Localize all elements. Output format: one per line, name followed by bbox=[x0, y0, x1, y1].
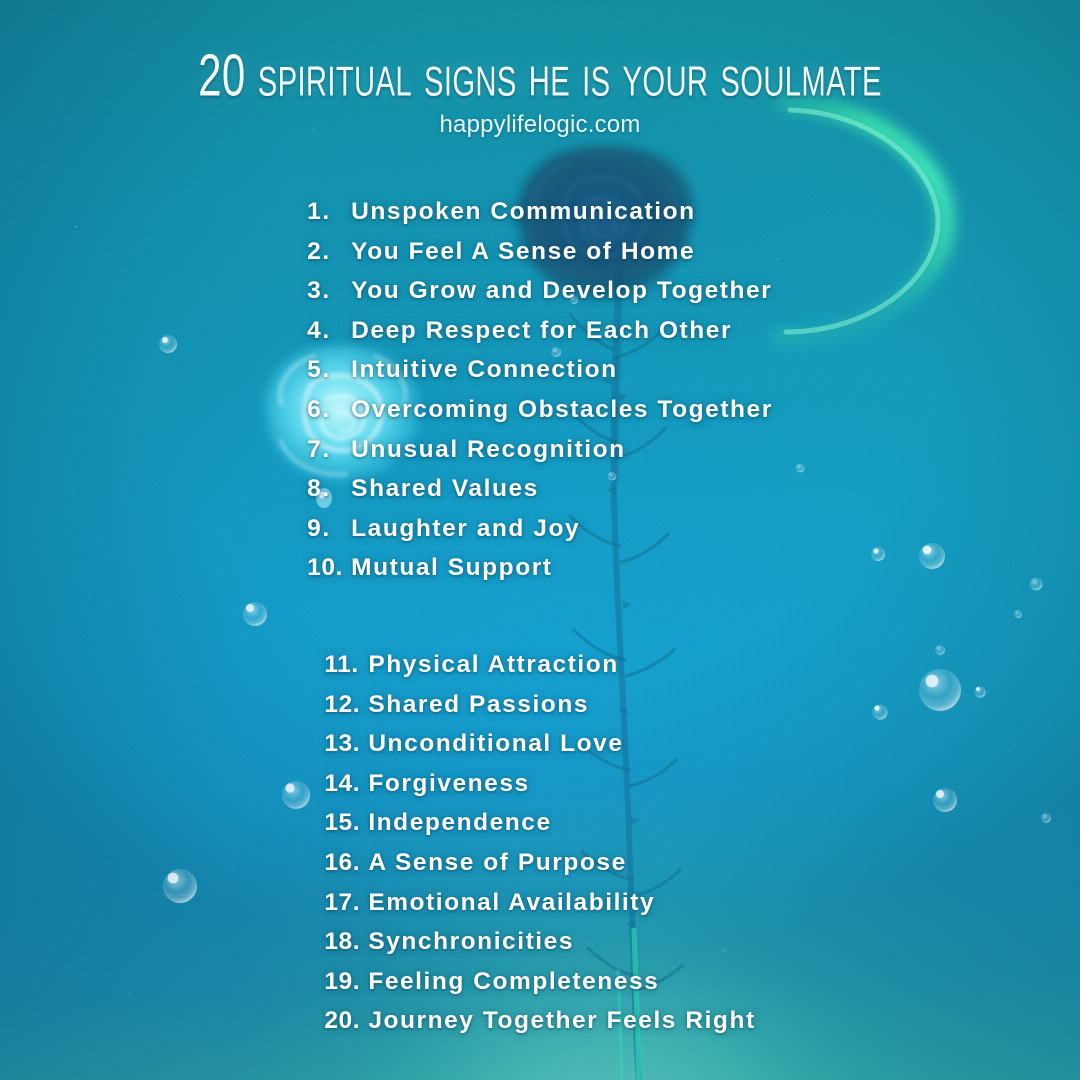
list-item-label: Journey Together Feels Right bbox=[368, 1007, 755, 1035]
list-item-number: 17. bbox=[324, 889, 368, 917]
list-item: 6. Overcoming Obstacles Together bbox=[307, 396, 773, 436]
list-item-label: Unspoken Communication bbox=[351, 198, 695, 226]
list-item-label: Feeling Completeness bbox=[368, 968, 659, 996]
list-item-label: Intuitive Connection bbox=[351, 356, 617, 384]
list-item-label: Deep Respect for Each Other bbox=[351, 317, 732, 345]
list-item-label: Laughter and Joy bbox=[351, 515, 580, 543]
list-item: 3. You Grow and Develop Together bbox=[307, 277, 773, 317]
list-item-number: 19. bbox=[324, 968, 368, 996]
list-item-number: 8. bbox=[307, 475, 351, 503]
list-item: 2. You Feel A Sense of Home bbox=[307, 238, 773, 278]
list-item-label: Physical Attraction bbox=[368, 651, 618, 679]
list-item: 17. Emotional Availability bbox=[324, 889, 755, 929]
list-item: 12. Shared Passions bbox=[324, 691, 755, 731]
list-item-label: Shared Passions bbox=[368, 691, 589, 719]
list-item-number: 12. bbox=[324, 691, 368, 719]
list-item-label: Emotional Availability bbox=[368, 889, 655, 917]
list-item: 11. Physical Attraction bbox=[324, 651, 755, 691]
list-item-number: 16. bbox=[324, 849, 368, 877]
list-item: 18. Synchronicities bbox=[324, 928, 755, 968]
list-item-number: 14. bbox=[324, 770, 368, 798]
list-item-number: 3. bbox=[307, 277, 351, 305]
site-url: happylifelogic.com bbox=[0, 111, 1080, 139]
list-item: 4. Deep Respect for Each Other bbox=[307, 317, 773, 357]
signs-group-1: 1. Unspoken Communication 2. You Feel A … bbox=[307, 198, 773, 594]
poster-content: 20 Spiritual Signs He Is Your Soulmate h… bbox=[0, 0, 1080, 1080]
list-item-label: Forgiveness bbox=[368, 770, 529, 798]
list-item: 9. Laughter and Joy bbox=[307, 515, 773, 555]
list-item: 8. Shared Values bbox=[307, 475, 773, 515]
list-item: 15. Independence bbox=[324, 809, 755, 849]
list-item-label: Unusual Recognition bbox=[351, 436, 625, 464]
list-item: 5. Intuitive Connection bbox=[307, 356, 773, 396]
list-item: 1. Unspoken Communication bbox=[307, 198, 773, 238]
list-item-label: You Grow and Develop Together bbox=[351, 277, 772, 305]
list-item-label: A Sense of Purpose bbox=[368, 849, 626, 877]
poster-canvas: 20 Spiritual Signs He Is Your Soulmate h… bbox=[0, 0, 1080, 1080]
list-item-number: 7. bbox=[307, 436, 351, 464]
list-item-number: 10. bbox=[307, 554, 351, 582]
list-item: 10. Mutual Support bbox=[307, 554, 773, 594]
list-item-number: 1. bbox=[307, 198, 351, 226]
list-item-label: Unconditional Love bbox=[368, 730, 623, 758]
list-item-number: 9. bbox=[307, 515, 351, 543]
signs-list: 1. Unspoken Communication 2. You Feel A … bbox=[0, 198, 1080, 1047]
list-item-number: 13. bbox=[324, 730, 368, 758]
list-item-label: Shared Values bbox=[351, 475, 539, 503]
list-item: 20. Journey Together Feels Right bbox=[324, 1007, 755, 1047]
list-item-number: 4. bbox=[307, 317, 351, 345]
list-item-number: 18. bbox=[324, 928, 368, 956]
list-item-label: Mutual Support bbox=[351, 554, 552, 582]
signs-group-2: 11. Physical Attraction 12. Shared Passi… bbox=[324, 651, 755, 1047]
page-title: 20 Spiritual Signs He Is Your Soulmate bbox=[76, 42, 1005, 110]
list-item-number: 20. bbox=[324, 1007, 368, 1035]
list-item: 13. Unconditional Love bbox=[324, 730, 755, 770]
list-item-label: Independence bbox=[368, 809, 551, 837]
list-item-number: 2. bbox=[307, 238, 351, 266]
list-item-number: 6. bbox=[307, 396, 351, 424]
list-item-label: Synchronicities bbox=[368, 928, 574, 956]
list-item: 14. Forgiveness bbox=[324, 770, 755, 810]
list-item: 7. Unusual Recognition bbox=[307, 436, 773, 476]
list-item-number: 11. bbox=[324, 651, 368, 679]
list-item: 16. A Sense of Purpose bbox=[324, 849, 755, 889]
list-item-label: You Feel A Sense of Home bbox=[351, 238, 695, 266]
list-item-label: Overcoming Obstacles Together bbox=[351, 396, 773, 424]
list-item: 19. Feeling Completeness bbox=[324, 968, 755, 1008]
list-item-number: 15. bbox=[324, 809, 368, 837]
list-item-number: 5. bbox=[307, 356, 351, 384]
